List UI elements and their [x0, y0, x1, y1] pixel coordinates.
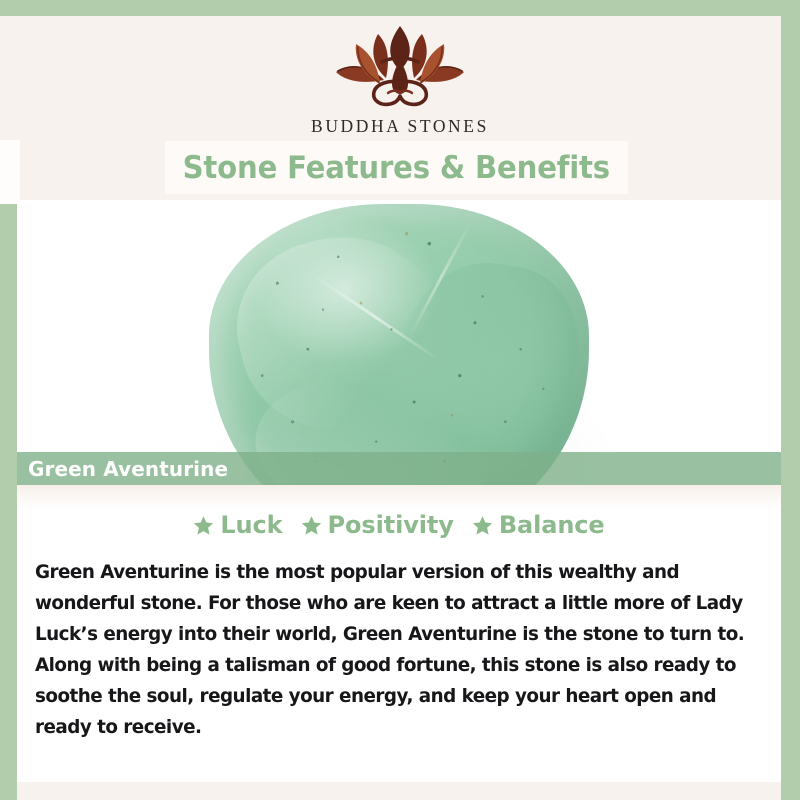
photo-backdrop: [17, 200, 781, 485]
star-icon: [301, 515, 322, 536]
stone-name-bar: Green Aventurine: [17, 452, 781, 485]
infographic-poster: BUDDHA STONES Stone Features & Benefits …: [0, 0, 800, 800]
brand-logo-block: BUDDHA STONES: [0, 22, 800, 137]
frame-band-left: [0, 203, 17, 800]
frame-band-top: [0, 0, 800, 16]
frame-corner-notch: [0, 140, 20, 204]
green-aventurine-stone-image: [209, 204, 589, 485]
page-title: Stone Features & Benefits: [183, 150, 610, 186]
benefit-label: Luck: [220, 511, 282, 539]
title-banner: Stone Features & Benefits: [165, 141, 628, 194]
star-icon: [472, 515, 493, 536]
benefit-item: Positivity: [301, 511, 454, 539]
benefit-label: Balance: [499, 511, 605, 539]
benefit-label: Positivity: [328, 511, 454, 539]
content-section: Luck Positivity Balance Green Aventurine…: [17, 485, 781, 782]
star-icon: [193, 515, 214, 536]
content-top-fade: [17, 485, 781, 511]
benefit-item: Luck: [193, 511, 282, 539]
benefit-item: Balance: [472, 511, 605, 539]
stone-name-label: Green Aventurine: [28, 457, 228, 481]
benefits-row: Luck Positivity Balance: [17, 511, 781, 539]
stone-description: Green Aventurine is the most popular ver…: [35, 557, 745, 743]
stone-warm-inclusions: [209, 204, 589, 485]
product-photo: [17, 200, 781, 485]
lotus-meditation-figure-icon: [320, 22, 480, 112]
brand-wordmark: BUDDHA STONES: [0, 116, 800, 137]
